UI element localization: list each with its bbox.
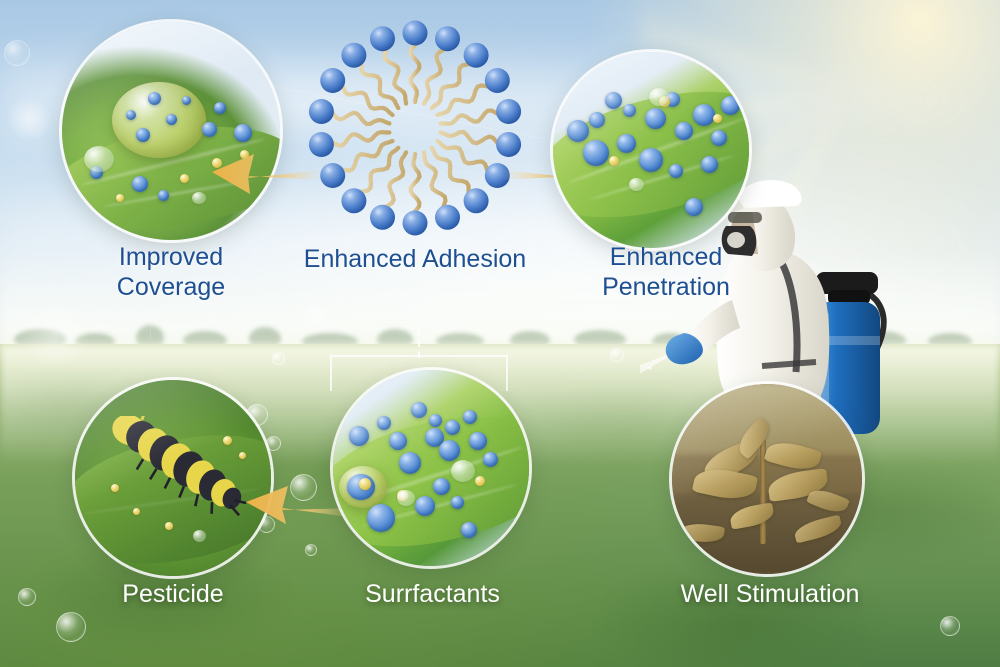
micelle-bead [669, 164, 683, 178]
water-droplet [84, 146, 114, 172]
micelle-bead [567, 120, 589, 142]
micelle-bead [659, 96, 670, 107]
bubble-icon [272, 352, 285, 365]
micelle-bead [425, 428, 444, 447]
micelle-tail [331, 110, 390, 124]
surfactant-droplet [339, 466, 387, 508]
micelle-bead [461, 522, 477, 538]
bubble-icon [18, 588, 36, 606]
label-enhanced-adhesion: Enhanced Adhesion [290, 245, 540, 275]
micelle-head [464, 43, 489, 68]
micelle-bead [463, 410, 477, 424]
micelle-bead [214, 102, 226, 114]
micelle-head [403, 211, 428, 236]
micelle-bead [583, 140, 609, 166]
micelle-bead [116, 194, 124, 202]
scene-surrfactants [333, 370, 529, 566]
water-droplet [223, 436, 232, 445]
water-droplet [111, 484, 119, 492]
micelle-bead [377, 416, 391, 430]
micelle-tail [438, 85, 491, 115]
micelle-tail [424, 48, 447, 104]
micelle-bead [445, 420, 460, 435]
micelle-bead [469, 432, 487, 450]
label-improved-coverage: Improved Coverage [61, 243, 281, 302]
label-well-stimulation: Well Stimulation [655, 580, 885, 610]
dried-leaf [733, 416, 775, 459]
micelle-bead [180, 174, 189, 183]
dried-leaf [729, 502, 776, 529]
water-droplet [133, 508, 140, 515]
dashed-connector [418, 330, 420, 358]
micelle-bead [367, 504, 395, 532]
scene-enhanced-penetration [553, 52, 749, 248]
micelle-bead [475, 476, 485, 486]
micelle-bead [433, 478, 450, 495]
micelle-bead [451, 496, 464, 509]
micelle-head [341, 188, 366, 213]
water-droplet [397, 490, 415, 506]
micelle-head [309, 132, 334, 157]
micelle-bead [645, 108, 666, 129]
micelle-tail [441, 111, 501, 124]
micelle-head [309, 99, 334, 124]
micelle-tail [342, 83, 393, 115]
micelle-bead [701, 156, 718, 173]
micelle-tail [411, 154, 420, 214]
dried-leaf [766, 468, 829, 502]
micelle-bead [166, 114, 177, 125]
micelle-head [370, 205, 395, 230]
dried-leaf [806, 485, 850, 517]
caterpillar-icon [95, 416, 255, 526]
micelle-head [320, 163, 345, 188]
thin-connector-line [150, 300, 151, 340]
leaf-vein [590, 154, 734, 201]
leaf-vein [361, 483, 516, 527]
micelle-bead [711, 130, 727, 146]
micelle-bead [132, 176, 148, 192]
water-droplet [239, 452, 246, 459]
bubble-icon [940, 616, 960, 636]
water-droplet [193, 530, 206, 542]
water-droplet [629, 178, 644, 191]
micelle-bead [713, 114, 722, 123]
micelle-bead [182, 96, 191, 105]
micelle-tail [438, 141, 489, 173]
node-surrfactants[interactable] [333, 370, 529, 566]
micelle-bead [589, 112, 605, 128]
micelle-bead [148, 92, 161, 105]
label-surrfactants: Surrfactants [330, 580, 535, 610]
bubble-icon [305, 544, 317, 556]
leaf-vein [82, 487, 261, 515]
micelle-bead [429, 414, 442, 427]
infographic-poster: Improved Coverage [0, 0, 1000, 667]
node-enhanced-penetration[interactable] [553, 52, 749, 248]
dried-leaf [764, 437, 823, 475]
dried-leaf [699, 438, 763, 484]
micelle-bead [359, 478, 371, 490]
micelle-head [496, 99, 521, 124]
micelle-head [464, 188, 489, 213]
micelle-head [320, 68, 345, 93]
micelle-bead [721, 96, 740, 115]
micelle-head [485, 68, 510, 93]
micelle-bead [347, 474, 375, 500]
micelle-bead [389, 432, 407, 450]
micelle-tail [330, 132, 390, 145]
bubble-icon [56, 612, 86, 642]
leaf-vein [345, 445, 523, 506]
micelle-bead [399, 452, 421, 474]
micelle-bead [623, 104, 636, 117]
micelle-head [341, 43, 366, 68]
plant-stem [760, 440, 766, 544]
micelle-bead [158, 190, 169, 201]
micelle-bead [136, 128, 150, 142]
micelle-tail [339, 141, 392, 171]
water-droplet [451, 460, 475, 482]
micelle-bead [605, 92, 622, 109]
micelle-bead [693, 104, 715, 126]
micelle-bead [349, 426, 369, 446]
leaf-vein [568, 116, 748, 185]
micelle-bead [90, 166, 103, 179]
micelle-tail [411, 42, 420, 102]
micelle-bead [439, 440, 460, 461]
micelle-bead [665, 92, 680, 107]
micelle-bead [675, 122, 693, 140]
micelle-head [403, 21, 428, 46]
micelle-bead [639, 148, 663, 172]
micelle-bead [483, 452, 498, 467]
micelle-head [435, 26, 460, 51]
label-pesticide: Pesticide [73, 580, 273, 610]
micelle-bead [415, 496, 435, 516]
water-droplet [649, 88, 669, 106]
micelle-bead [609, 156, 619, 166]
dried-leaf [692, 464, 758, 504]
micelle-head [370, 26, 395, 51]
micelle-bead [411, 402, 427, 418]
micelle-bead [126, 110, 136, 120]
micelle-bead [397, 490, 408, 501]
micelle-tail [383, 152, 406, 208]
micelle-bead [685, 198, 703, 216]
dried-leaf [793, 514, 844, 543]
label-enhanced-penetration: Enhanced Penetration [556, 243, 776, 302]
micelle-diagram [300, 18, 530, 242]
micelle-head [435, 205, 460, 230]
water-droplet [165, 522, 173, 530]
micelle-tail [441, 132, 500, 146]
node-well-stimulation[interactable] [672, 384, 862, 574]
bubble-icon [610, 348, 624, 362]
scene-well-stimulation [672, 384, 862, 574]
pesticide-droplet [112, 82, 206, 158]
bubble-icon [4, 40, 30, 66]
micelle-bead [617, 134, 636, 153]
